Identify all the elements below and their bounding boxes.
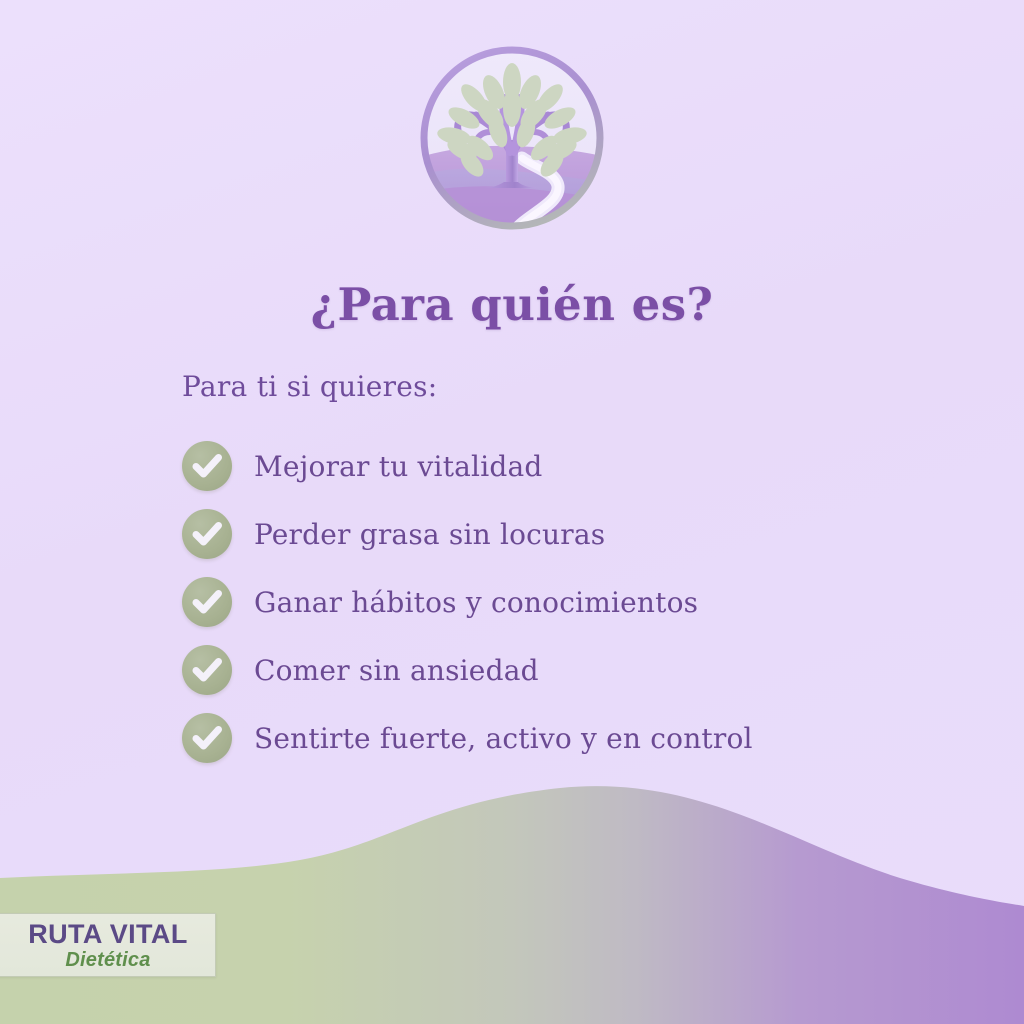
check-icon bbox=[182, 441, 232, 491]
list-item-label: Ganar hábitos y conocimientos bbox=[254, 586, 698, 619]
check-icon bbox=[182, 509, 232, 559]
section-subtitle: Para ti si quieres: bbox=[182, 370, 438, 403]
check-icon bbox=[182, 645, 232, 695]
list-item: Comer sin ansiedad bbox=[182, 636, 902, 704]
benefits-list: Mejorar tu vitalidad Perder grasa sin lo… bbox=[182, 432, 902, 772]
promo-poster: ¿Para quién es? Para ti si quieres: Mejo… bbox=[0, 0, 1024, 1024]
list-item: Sentirte fuerte, activo y en control bbox=[182, 704, 902, 772]
page-title: ¿Para quién es? bbox=[0, 278, 1024, 331]
brand-badge: RUTA VITAL Dietética bbox=[0, 913, 216, 977]
brand-tagline: Dietética bbox=[65, 949, 150, 971]
list-item-label: Sentirte fuerte, activo y en control bbox=[254, 722, 753, 755]
list-item: Perder grasa sin locuras bbox=[182, 500, 902, 568]
list-item: Ganar hábitos y conocimientos bbox=[182, 568, 902, 636]
list-item-label: Perder grasa sin locuras bbox=[254, 518, 605, 551]
check-icon bbox=[182, 713, 232, 763]
tree-of-life-icon bbox=[410, 36, 614, 240]
list-item-label: Comer sin ansiedad bbox=[254, 654, 539, 687]
brand-logo bbox=[410, 36, 614, 240]
decorative-wave bbox=[0, 774, 1024, 1024]
wave-shape bbox=[0, 774, 1024, 1024]
list-item-label: Mejorar tu vitalidad bbox=[254, 450, 543, 483]
check-icon bbox=[182, 577, 232, 627]
list-item: Mejorar tu vitalidad bbox=[182, 432, 902, 500]
brand-name: RUTA VITAL bbox=[28, 920, 187, 949]
